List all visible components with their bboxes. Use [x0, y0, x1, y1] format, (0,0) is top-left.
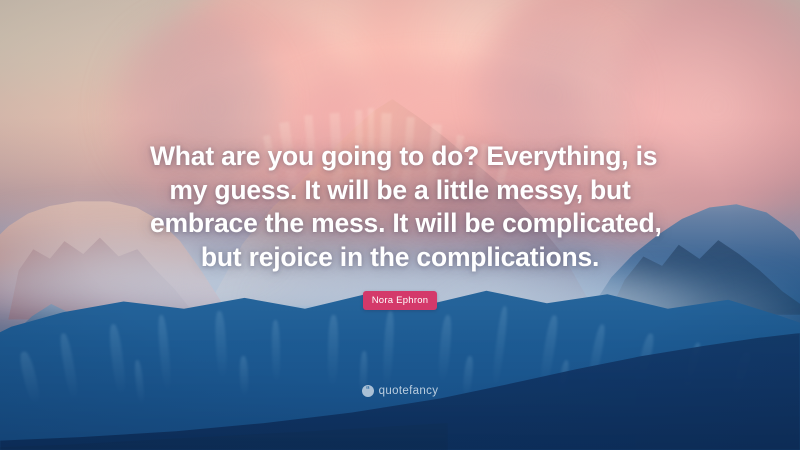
quote-line: What are you going to do? Everything, is [150, 140, 650, 174]
author-badge[interactable]: Nora Ephron [363, 291, 438, 310]
quote-card: What are you going to do? Everything, is… [0, 0, 800, 450]
quote-text: What are you going to do? Everything, is… [150, 140, 650, 274]
quote-line: embrace the mess. It will be complicated… [150, 207, 650, 241]
card-content: What are you going to do? Everything, is… [0, 0, 800, 450]
quote-line: my guess. It will be a little messy, but [150, 174, 650, 208]
quote-line: but rejoice in the complications. [150, 241, 650, 275]
